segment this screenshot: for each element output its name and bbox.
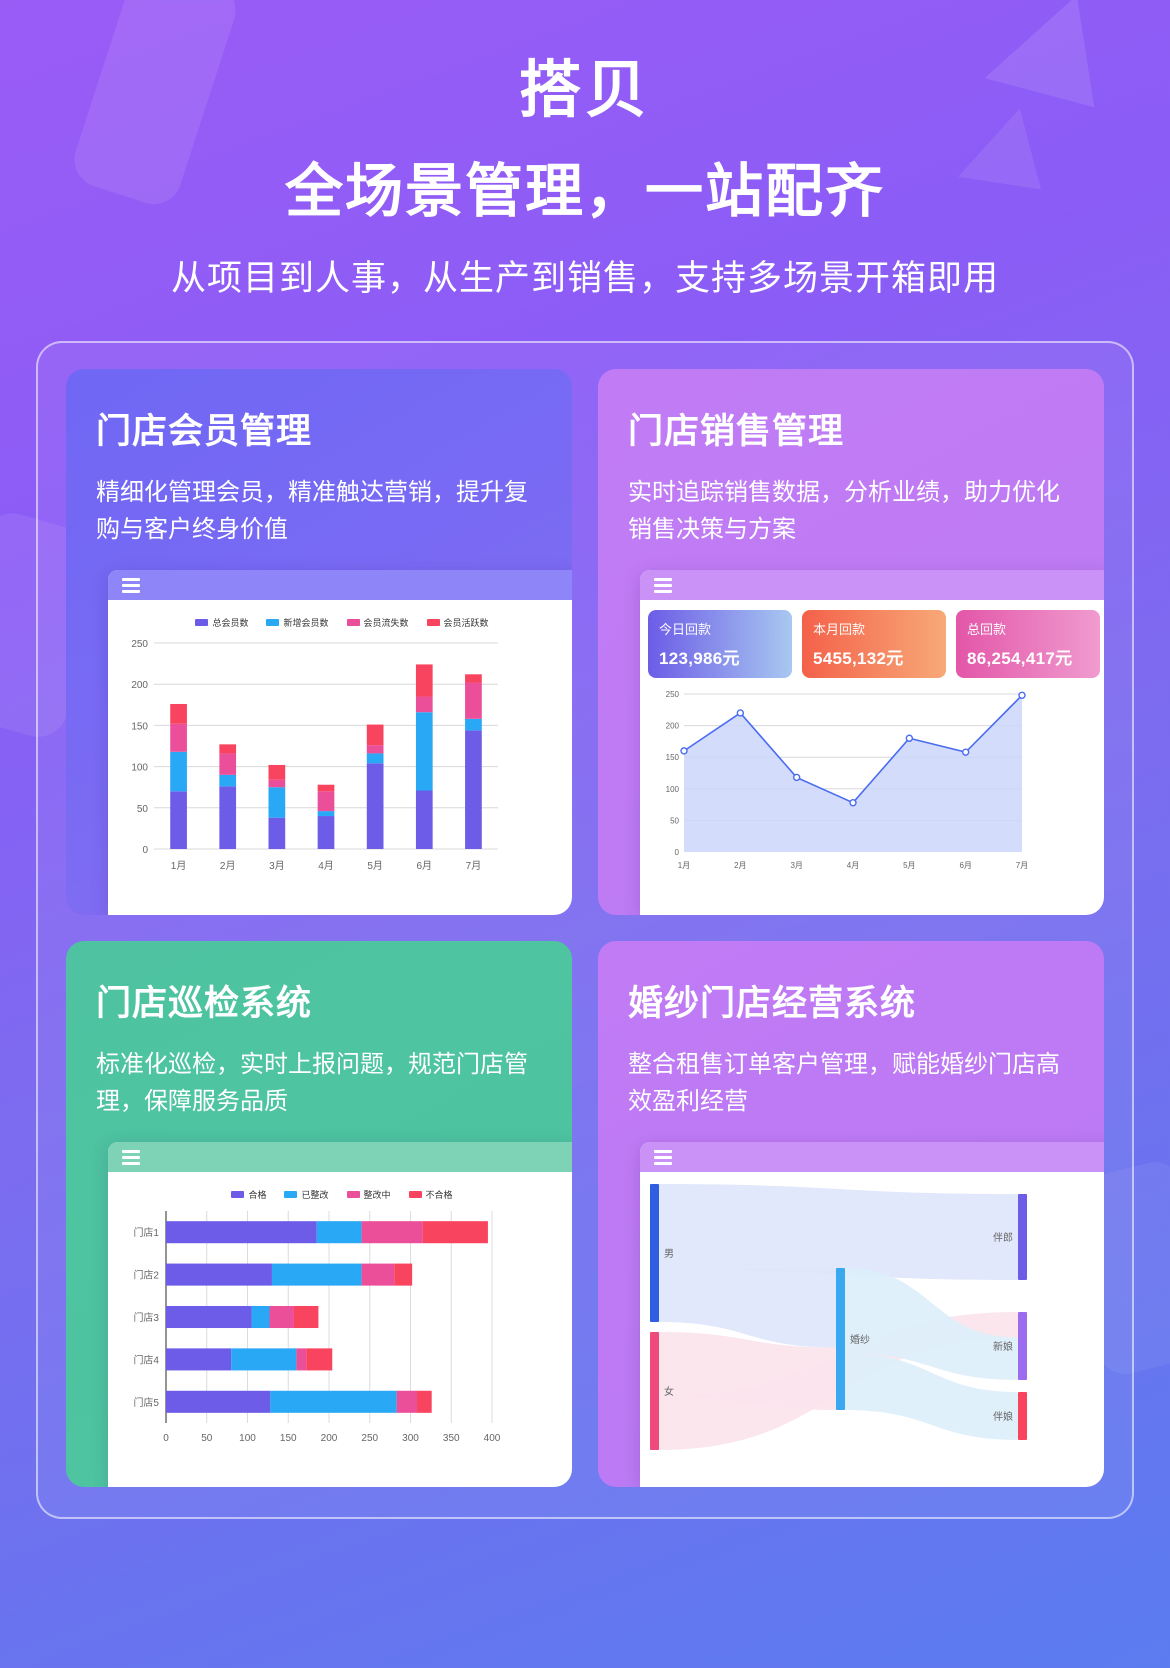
legend-swatch [266,619,279,626]
mock-app-window: 男女婚纱伴郎新娘伴娘 [640,1142,1104,1487]
mock-app-window: 今日回款 123,986元 本月回款 5455,132元 总回款 86,254,… [640,570,1104,915]
legend-item: 已整改 [284,1188,328,1201]
legend-label: 已整改 [301,1188,328,1201]
legend-label: 总会员数 [212,616,248,629]
svg-text:200: 200 [666,722,680,731]
svg-text:5月: 5月 [903,861,915,870]
legend-swatch [347,619,360,626]
feature-cards-panel: 门店会员管理 精细化管理会员，精准触达营销，提升复购与客户终身价值 总会员数 新… [36,341,1134,1519]
svg-text:100: 100 [131,763,148,774]
card-member-management[interactable]: 门店会员管理 精细化管理会员，精准触达营销，提升复购与客户终身价值 总会员数 新… [66,369,572,915]
hamburger-icon[interactable] [122,578,140,593]
svg-text:1月: 1月 [171,860,187,872]
legend-item: 合格 [231,1188,266,1201]
legend-label: 新增会员数 [283,616,328,629]
mock-toolbar [108,1142,572,1172]
card-description: 标准化巡检，实时上报问题，规范门店管理，保障服务品质 [96,1046,542,1120]
svg-text:伴郎: 伴郎 [993,1231,1013,1244]
mock-chart-area: 男女婚纱伴郎新娘伴娘 [640,1172,1104,1462]
svg-text:50: 50 [137,804,149,815]
area-line-chart: 5010015020025001月2月3月4月5月6月7月 [646,686,1032,880]
svg-text:250: 250 [361,1433,378,1444]
card-sales-management[interactable]: 门店销售管理 实时追踪销售数据，分析业绩，助力优化销售决策与方案 今日回款 12… [598,369,1104,915]
stat-card-month[interactable]: 本月回款 5455,132元 [802,610,946,678]
legend-label: 会员活跃数 [444,616,489,629]
svg-text:男: 男 [664,1248,674,1260]
card-description: 实时追踪销售数据，分析业绩，助力优化销售决策与方案 [628,474,1074,548]
svg-text:150: 150 [666,754,680,763]
mock-chart-area: 5010015020025001月2月3月4月5月6月7月 [640,682,1104,880]
legend-item: 新增会员数 [266,616,328,629]
card-description: 整合租售订单客户管理，赋能婚纱门店高效盈利经营 [628,1046,1074,1120]
stat-label: 今日回款 [659,619,781,638]
svg-text:4月: 4月 [847,861,859,870]
sankey-diagram: 男女婚纱伴郎新娘伴娘 [640,1172,1040,1462]
svg-text:2月: 2月 [220,860,236,872]
mock-app-window: 总会员数 新增会员数 会员流失数 会员活跃数 0501001502002501月… [108,570,572,915]
card-description: 精细化管理会员，精准触达营销，提升复购与客户终身价值 [96,474,542,548]
horizontal-stacked-bar-chart: 050100150200250300350400门店1门店2门店3门店4门店5 [114,1205,506,1453]
svg-text:新娘: 新娘 [993,1340,1013,1353]
mock-chart-area: 合格 已整改 整改中 不合格 050100150200250300350400门… [108,1172,572,1457]
svg-text:6月: 6月 [959,861,971,870]
mock-app-window: 合格 已整改 整改中 不合格 050100150200250300350400门… [108,1142,572,1487]
svg-text:50: 50 [670,817,679,826]
hamburger-icon[interactable] [654,1150,672,1165]
svg-text:4月: 4月 [318,860,334,872]
legend-swatch [347,1191,360,1198]
legend-swatch [427,619,440,626]
stat-value: 86,254,417元 [967,644,1089,669]
brand-title: 搭贝 [0,52,1170,130]
legend-item: 会员活跃数 [427,616,489,629]
svg-text:女: 女 [664,1385,674,1398]
card-title: 婚纱门店经营系统 [628,975,1074,1026]
mock-toolbar [640,570,1104,600]
svg-text:门店3: 门店3 [133,1311,159,1324]
svg-text:3月: 3月 [790,861,802,870]
stat-value: 5455,132元 [813,644,935,669]
svg-text:2月: 2月 [734,861,746,870]
hamburger-icon[interactable] [654,578,672,593]
card-title: 门店销售管理 [628,403,1074,454]
page-headline: 全场景管理，一站配齐 [0,156,1170,229]
stat-card-total[interactable]: 总回款 86,254,417元 [956,610,1100,678]
stacked-bar-chart: 0501001502002501月2月3月4月5月6月7月 [114,633,506,883]
legend-item: 会员流失数 [347,616,409,629]
card-title: 门店会员管理 [96,403,542,454]
legend-swatch [284,1191,297,1198]
card-title: 门店巡检系统 [96,975,542,1026]
svg-text:200: 200 [321,1433,338,1444]
svg-text:1月: 1月 [678,861,690,870]
legend-label: 会员流失数 [364,616,409,629]
legend-label: 合格 [248,1188,266,1201]
svg-text:250: 250 [131,639,148,650]
chart-legend: 合格 已整改 整改中 不合格 [114,1188,570,1201]
svg-text:0: 0 [142,845,148,856]
stat-card-today[interactable]: 今日回款 123,986元 [648,610,792,678]
hamburger-icon[interactable] [122,1150,140,1165]
page-subheadline: 从项目到人事，从生产到销售，支持多场景开箱即用 [0,250,1170,301]
legend-item: 不合格 [409,1188,453,1201]
svg-text:7月: 7月 [1016,861,1028,870]
svg-text:150: 150 [280,1433,297,1444]
chart-legend: 总会员数 新增会员数 会员流失数 会员活跃数 [114,616,570,629]
svg-text:门店1: 门店1 [133,1227,159,1240]
svg-text:5月: 5月 [367,860,383,872]
svg-text:7月: 7月 [466,860,482,872]
svg-text:350: 350 [443,1433,460,1444]
svg-text:伴娘: 伴娘 [993,1410,1013,1423]
svg-text:100: 100 [239,1433,256,1444]
stat-label: 总回款 [967,619,1089,638]
svg-text:6月: 6月 [417,860,433,872]
legend-swatch [231,1191,244,1198]
svg-text:100: 100 [666,785,680,794]
stat-value: 123,986元 [659,644,781,669]
svg-text:0: 0 [675,848,680,857]
stat-label: 本月回款 [813,619,935,638]
mock-toolbar [640,1142,1104,1172]
svg-text:3月: 3月 [269,860,285,872]
mock-toolbar [108,570,572,600]
svg-text:门店2: 门店2 [133,1269,159,1282]
svg-text:门店5: 门店5 [133,1396,159,1409]
svg-text:150: 150 [131,722,148,733]
legend-swatch [195,619,208,626]
svg-text:250: 250 [666,690,680,699]
svg-text:0: 0 [163,1433,169,1444]
svg-text:婚纱: 婚纱 [850,1333,870,1346]
page-header: 搭贝 全场景管理，一站配齐 从项目到人事，从生产到销售，支持多场景开箱即用 [0,0,1170,301]
card-bridal-shop-system[interactable]: 婚纱门店经营系统 整合租售订单客户管理，赋能婚纱门店高效盈利经营 男女婚纱伴郎新… [598,941,1104,1487]
svg-text:200: 200 [131,681,148,692]
stat-card-row: 今日回款 123,986元 本月回款 5455,132元 总回款 86,254,… [640,600,1104,682]
legend-label: 不合格 [426,1188,453,1201]
card-inspection-system[interactable]: 门店巡检系统 标准化巡检，实时上报问题，规范门店管理，保障服务品质 合格 已整改… [66,941,572,1487]
legend-item: 总会员数 [195,616,248,629]
svg-text:50: 50 [201,1433,213,1444]
legend-label: 整改中 [364,1188,391,1201]
svg-text:300: 300 [402,1433,419,1444]
legend-item: 整改中 [347,1188,391,1201]
svg-text:门店4: 门店4 [133,1354,159,1367]
svg-text:400: 400 [484,1433,501,1444]
legend-swatch [409,1191,422,1198]
mock-chart-area: 总会员数 新增会员数 会员流失数 会员活跃数 0501001502002501月… [108,600,572,887]
